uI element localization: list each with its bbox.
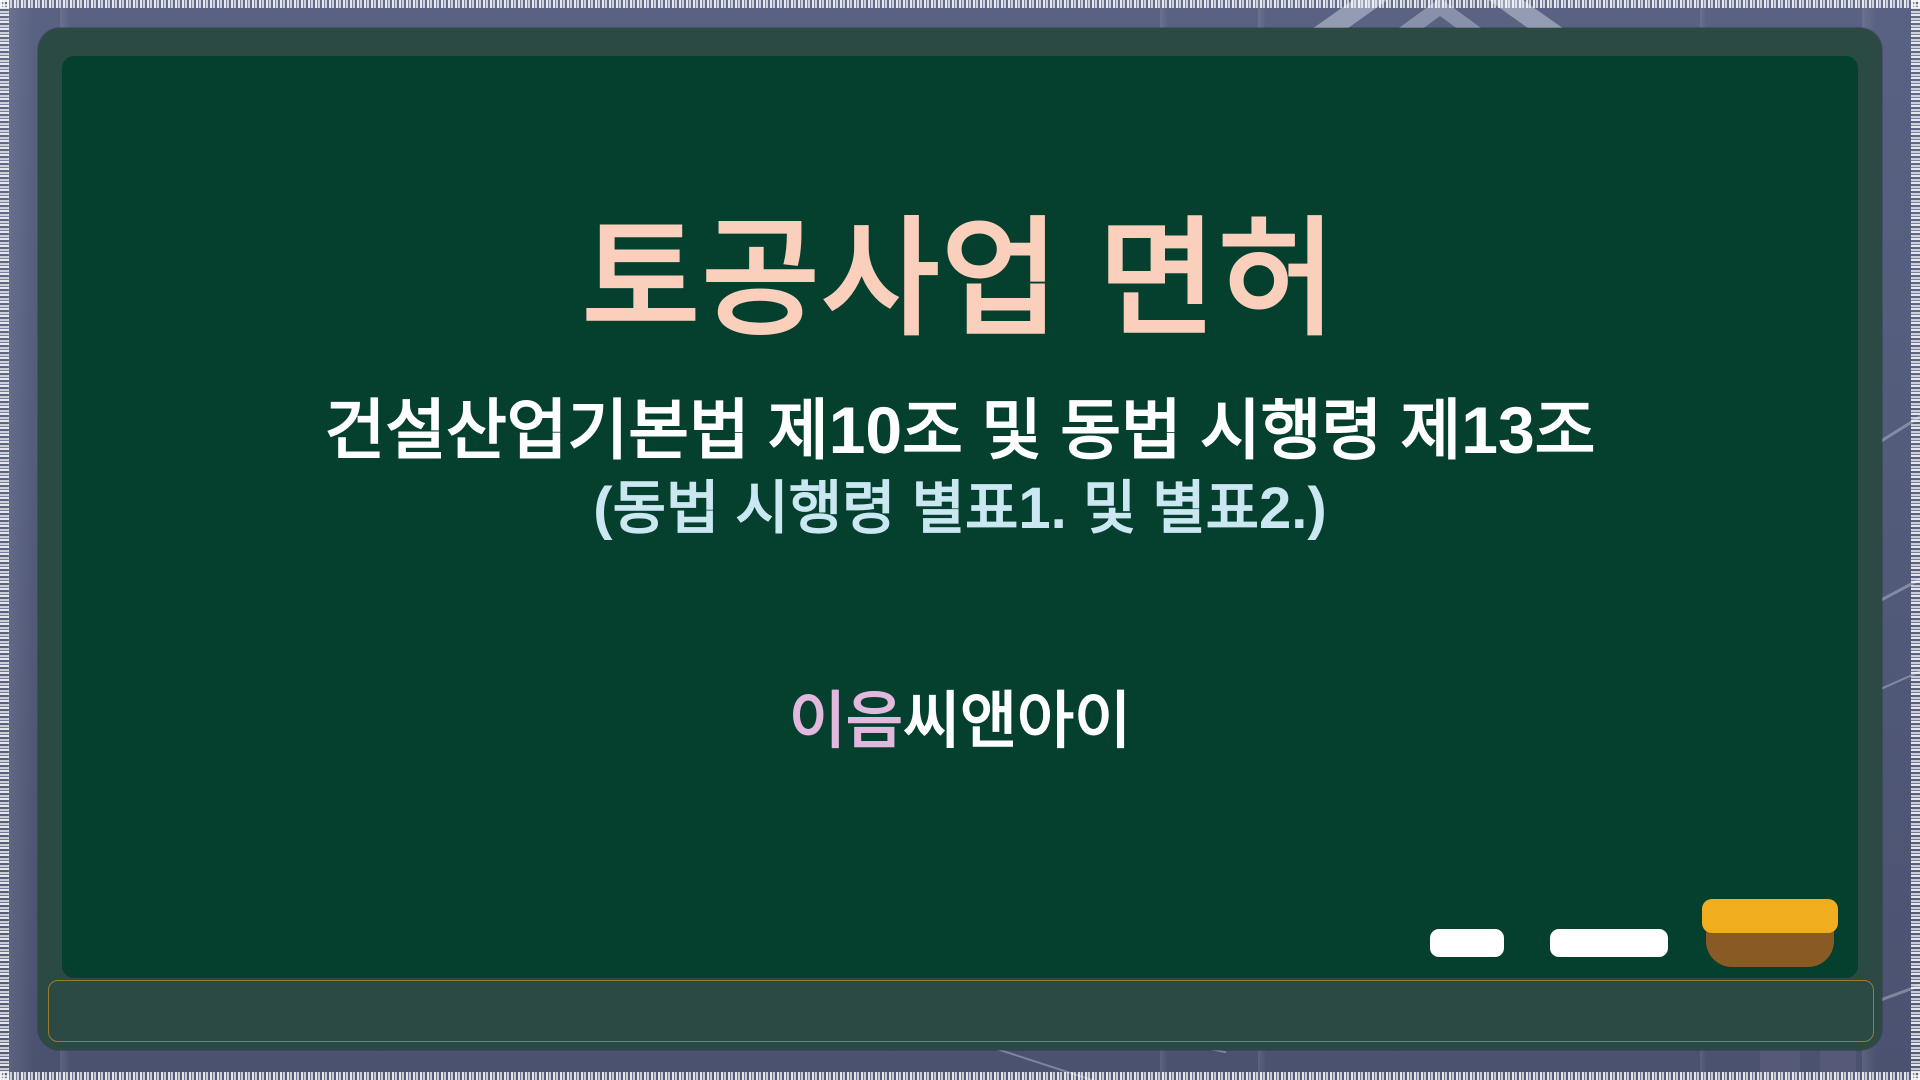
chalk-tray (48, 980, 1874, 1042)
backdrop-diagonal (1880, 361, 1920, 443)
backdrop-pilaster (8, 0, 34, 1080)
backdrop-edge-texture (0, 0, 1920, 8)
backdrop-diagonal (1876, 959, 1920, 1003)
brand-wordmark: 이음씨앤아이 (789, 670, 1131, 760)
slide-subtitle: 건설산업기본법 제10조 및 동법 시행령 제13조 (325, 391, 1596, 470)
slide-subnote: (동법 시행령 별표1. 및 별표2.) (593, 474, 1326, 544)
brand-secondary-text: 씨앤아이 (903, 687, 1131, 756)
blackboard-frame: 토공사업 면허 건설산업기본법 제10조 및 동법 시행령 제13조 (동법 시… (38, 28, 1882, 1050)
backdrop-edge-texture (0, 1072, 1920, 1080)
backdrop-edge-texture (0, 0, 9, 1080)
board-eraser[interactable] (1702, 899, 1838, 967)
blackboard-surface: 토공사업 면허 건설산업기본법 제10조 및 동법 시행령 제13조 (동법 시… (62, 56, 1858, 978)
slide-content: 토공사업 면허 건설산업기본법 제10조 및 동법 시행령 제13조 (동법 시… (62, 56, 1858, 978)
chalk-stick-short[interactable] (1430, 929, 1504, 957)
eraser-top (1702, 899, 1838, 933)
backdrop-edge-texture (1911, 0, 1920, 1080)
backdrop-diagonal (1876, 637, 1920, 692)
chalk-stick-long[interactable] (1550, 929, 1668, 957)
slide-title: 토공사업 면허 (582, 206, 1338, 353)
backdrop-diagonal (1878, 525, 1920, 603)
brand-primary-text: 이음 (789, 687, 903, 756)
